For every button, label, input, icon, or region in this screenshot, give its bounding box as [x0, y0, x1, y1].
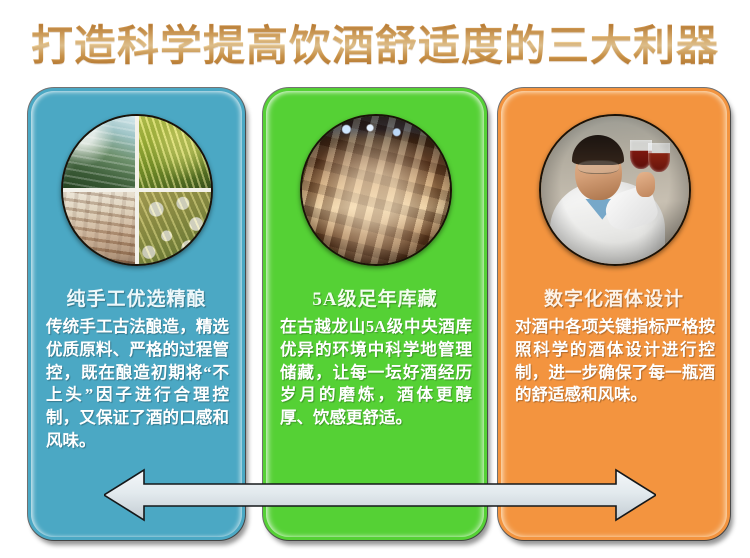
panel-body-2: 在古越龙山5A级中央酒库优异的环境中科学地管理储藏，让每一坛好酒经历岁月的磨炼，…	[280, 316, 472, 430]
scientist-figure-icon	[541, 116, 689, 264]
handcraft-brewing-quad-photo	[61, 114, 213, 266]
panel-heading-3: 数字化酒体设计	[498, 284, 730, 311]
feature-panel-cellar-storage[interactable]: 5A级足年库藏 在古越龙山5A级中央酒库优异的环境中科学地管理储藏，让每一坛好酒…	[263, 88, 487, 540]
page-title: 打造科学提高饮酒舒适度的三大利器	[31, 12, 719, 73]
wine-cellar-jar-storage-photo	[300, 114, 452, 266]
cellar-jars-icon	[302, 116, 450, 264]
scientist-tasting-wine-photo	[539, 114, 691, 266]
photo-vignette	[541, 116, 689, 264]
header-bar: 打造科学提高饮酒舒适度的三大利器	[0, 0, 750, 84]
wheat-and-yeast-balls-icon	[137, 190, 211, 264]
waterfall-spring-water-icon	[63, 116, 137, 190]
quad-divider-horizontal	[63, 188, 211, 192]
fermentation-mash-vats-icon	[63, 190, 137, 264]
panel-body-1: 传统手工古法酿造，精选优质原料、严格的过程管控，既在酿造初期将“不上头”因子进行…	[46, 316, 229, 453]
panel-heading-2: 5A级足年库藏	[263, 284, 487, 311]
feature-panel-handcraft-brewing[interactable]: 纯手工优选精酿 传统手工古法酿造，精选优质原料、严格的过程管控，既在酿造初期将“…	[28, 88, 245, 540]
panel-body-3: 对酒中各项关键指标严格按照科学的酒体设计进行控制，进一步确保了每一瓶酒的舒适感和…	[515, 316, 715, 407]
golden-rice-grain-field-icon	[137, 116, 211, 190]
panel-heading-1: 纯手工优选精酿	[28, 284, 245, 311]
feature-panel-digital-design[interactable]: 数字化酒体设计 对酒中各项关键指标严格按照科学的酒体设计进行控制，进一步确保了每…	[498, 88, 730, 540]
